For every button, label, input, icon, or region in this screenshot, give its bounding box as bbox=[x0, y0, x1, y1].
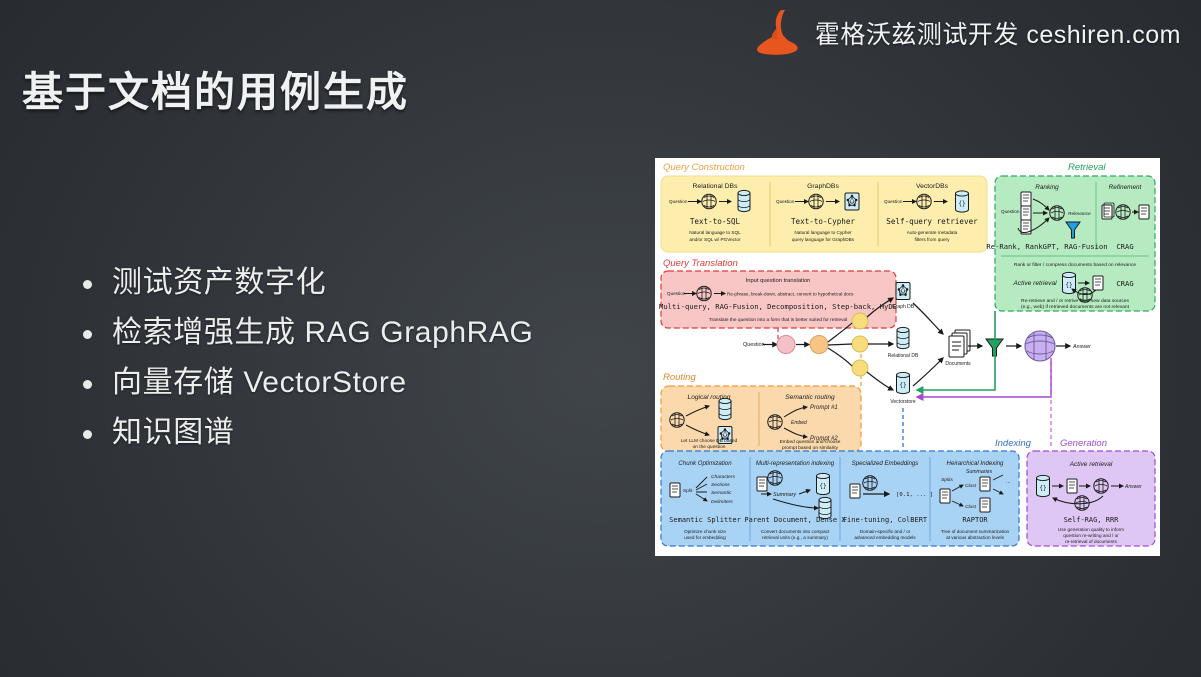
graph-db-icon bbox=[896, 283, 910, 300]
documents-icon bbox=[670, 483, 680, 497]
documents-icon bbox=[1021, 206, 1031, 220]
indexing-vector-label: [0.1, ... ] bbox=[896, 492, 933, 498]
retrieval-active-name: CRAG bbox=[1116, 279, 1133, 288]
translate-node bbox=[777, 336, 795, 354]
route-node bbox=[810, 336, 828, 354]
qc-col3-title: VectorDBs bbox=[916, 183, 949, 190]
vectorstore-icon bbox=[1037, 475, 1050, 496]
generation-desc3: re-retrieval of documents bbox=[1065, 539, 1118, 544]
qc-col3-name: Self-query retriever bbox=[886, 217, 978, 226]
section-label-indexing: Indexing bbox=[995, 438, 1032, 449]
documents-icon bbox=[1067, 479, 1077, 493]
routing-col1-desc1: Let LLM choose DB based bbox=[681, 438, 738, 444]
qt-heading: Input question translation bbox=[746, 278, 811, 284]
llm-brain-icon bbox=[1025, 331, 1055, 361]
documents-icon bbox=[940, 489, 950, 503]
indexing-col2-desc2: retrieval units (e.g., a summary) bbox=[762, 535, 828, 540]
indexing-col3-desc1: Domain-specific and / or bbox=[860, 529, 911, 534]
retrieval-refinement-title: Refinement bbox=[1109, 184, 1142, 191]
flow-question-label: Question bbox=[743, 342, 765, 348]
retrieval-active-desc2: (e.g., web) if retrieved documents are n… bbox=[1021, 304, 1130, 310]
indexing-col3-title: Specialized Embeddings bbox=[852, 460, 919, 467]
retrieval-active-desc1: Re-retrieve and / or retrive from new da… bbox=[1021, 298, 1129, 304]
branch-node-1 bbox=[852, 313, 868, 329]
routing-col2-desc2: prompt based on similarity bbox=[782, 445, 839, 451]
qt-techniques: Multi-query, RAG-Fusion, Decomposition, … bbox=[659, 302, 897, 311]
indexing-col2-desc1: Convert documents into compact bbox=[761, 529, 830, 534]
indexing-col4-title: Heirarchical Indexing bbox=[947, 460, 1005, 467]
indexing-col4-name: RAPTOR bbox=[962, 516, 988, 524]
documents-icon bbox=[949, 330, 970, 357]
list-item: 测试资产数字化 bbox=[78, 258, 533, 308]
store-label-vectorstore: Vectorstore bbox=[890, 399, 916, 405]
qc-col2-title: GraphDBs bbox=[807, 183, 839, 190]
section-label-routing: Routing bbox=[663, 372, 696, 383]
qc-col1-title: Relational DBs bbox=[693, 183, 739, 190]
flow-answer-label: Answer bbox=[1072, 344, 1091, 350]
routing-col2-desc1: Embed question and choose bbox=[780, 439, 841, 445]
indexing-summary-label: Summary bbox=[773, 492, 796, 498]
indexing-option-semantic: Semantic bbox=[711, 490, 732, 496]
qc-col1-desc1: Natural language to SQL bbox=[689, 230, 741, 235]
routing-col1-desc2: on the question bbox=[693, 444, 726, 450]
indexing-col4-desc1: Tree of document summarization bbox=[941, 529, 1010, 534]
retrieval-active-title: Active retrieval bbox=[1012, 280, 1057, 287]
indexing-col1-desc2: used for embedding bbox=[684, 535, 726, 540]
generation-answer-label: Answer bbox=[1124, 484, 1142, 490]
retrieval-ranking-input: Question bbox=[1001, 209, 1020, 214]
qt-output: Re-phrase, break-down, abstract, convert… bbox=[727, 292, 854, 297]
indexing-col2-name: Parent Document, Dense X bbox=[744, 516, 846, 524]
qc-col3-desc2: filters from query bbox=[915, 237, 951, 242]
indexing-summaries-label: Summaries bbox=[966, 469, 993, 475]
qt-input: Question bbox=[667, 291, 686, 296]
database-cylinder-icon bbox=[719, 398, 731, 419]
section-label-query-translation: Query Translation bbox=[663, 258, 738, 269]
generation-name: Self-RAG, RRR bbox=[1064, 516, 1120, 524]
page-title: 基于文档的用例生成 bbox=[22, 58, 409, 118]
documents-icon bbox=[980, 498, 990, 512]
qc-col2-desc2: query language for GraphDBs bbox=[792, 237, 855, 242]
indexing-col3-name: Fine-tuning, ColBERT bbox=[843, 516, 928, 524]
documents-icon bbox=[1021, 192, 1031, 206]
indexing-col4-desc2: at various abstraction levels bbox=[946, 535, 1004, 540]
graph-db-icon bbox=[845, 193, 859, 210]
list-item: 检索增强生成 RAG GraphRAG bbox=[78, 308, 533, 358]
list-item: 知识图谱 bbox=[78, 408, 533, 458]
retrieval-ranking-desc: Rank or filter / compress documents base… bbox=[1014, 262, 1137, 268]
indexing-col1-name: Semantic Splitter bbox=[669, 516, 741, 524]
indexing-splits-label: Splits bbox=[941, 477, 954, 483]
retrieval-refinement-name: CRAG bbox=[1116, 242, 1133, 251]
generation-desc1: Use generation quality to inform bbox=[1058, 527, 1124, 532]
qc-col2-name: Text-to-Cypher bbox=[791, 217, 855, 226]
indexing-option-sections: Sections bbox=[711, 482, 730, 488]
brand-text: 霍格沃兹测试开发 ceshiren.com bbox=[815, 15, 1181, 51]
vectorstore-icon bbox=[817, 473, 830, 494]
store-label-graph-db: Graph DB bbox=[892, 304, 915, 310]
indexing-ellipsis: ... bbox=[1006, 479, 1011, 485]
section-label-generation: Generation bbox=[1060, 438, 1107, 449]
list-item: 向量存储 VectorStore bbox=[78, 358, 533, 408]
qc-col3-input: Question bbox=[884, 199, 903, 204]
slide-canvas: 霍格沃兹测试开发 ceshiren.com 基于文档的用例生成 测试资产数字化 … bbox=[0, 0, 1201, 677]
rag-architecture-diagram: {} Query Construction Relational DBs Que… bbox=[655, 158, 1160, 556]
store-label-relational-db: Relational DB bbox=[888, 353, 919, 359]
branch-node-2 bbox=[852, 336, 868, 352]
qc-col2-desc1: Natural language to Cypher bbox=[794, 230, 852, 235]
qc-col1-name: Text-to-SQL bbox=[690, 217, 741, 226]
indexing-col2-title: Multi-representation indexing bbox=[756, 460, 835, 467]
brand-header: 霍格沃兹测试开发 ceshiren.com bbox=[751, 8, 1181, 58]
indexing-col3-desc2: advanced embedding models bbox=[854, 535, 916, 540]
indexing-col1-title: Chunk Optimization bbox=[678, 460, 732, 467]
qc-col3-desc1: Auto-generate metadata bbox=[907, 230, 958, 235]
indexing-cluster-label-1: Clust bbox=[965, 483, 977, 489]
section-label-query-construction: Query Construction bbox=[663, 162, 745, 173]
vectorstore-icon bbox=[897, 372, 910, 393]
branch-node-3 bbox=[852, 360, 868, 376]
documents-icon bbox=[757, 477, 767, 491]
indexing-option-characters: Characters bbox=[711, 474, 735, 480]
routing-col2-title: Semantic routing bbox=[785, 394, 835, 401]
retrieval-ranking-name: Re-Rank, RankGPT, RAG-Fusion bbox=[986, 242, 1107, 251]
database-cylinder-icon bbox=[897, 327, 909, 348]
routing-embed-label: Embed bbox=[791, 420, 807, 426]
documents-icon bbox=[980, 477, 990, 491]
database-cylinder-icon bbox=[738, 190, 750, 211]
indexing-option-delimiters: Delimiters bbox=[711, 499, 733, 505]
indexing-col1-desc1: Optimize chunk size bbox=[684, 529, 726, 534]
wizard-hat-icon bbox=[751, 8, 803, 58]
retrieval-relevance-label: Relevance bbox=[1068, 211, 1091, 217]
bullet-list: 测试资产数字化 检索增强生成 RAG GraphRAG 向量存储 VectorS… bbox=[78, 258, 533, 458]
qt-desc: Translate the question into a form that … bbox=[709, 317, 847, 323]
indexing-split-label: Split bbox=[683, 488, 693, 494]
generation-desc2: question re-writing and / or bbox=[1063, 533, 1119, 538]
documents-icon bbox=[1093, 276, 1103, 290]
generation-title: Active retrieval bbox=[1069, 461, 1113, 468]
qc-col1-desc2: and/or SQL w/ PGVector bbox=[689, 237, 741, 242]
routing-prompt-1: Prompt #1 bbox=[810, 405, 838, 411]
indexing-cluster-label-2: Clust bbox=[965, 504, 977, 510]
vectorstore-icon bbox=[956, 191, 969, 212]
qc-col2-input: Question bbox=[776, 199, 795, 204]
section-label-retrieval: Retrieval bbox=[1068, 162, 1106, 173]
retrieval-ranking-title: Ranking bbox=[1035, 184, 1059, 191]
qc-col1-input: Question bbox=[669, 199, 688, 204]
flow-documents-label: Documents bbox=[945, 361, 971, 367]
documents-icon bbox=[850, 484, 860, 498]
documents-icon bbox=[1139, 205, 1149, 219]
